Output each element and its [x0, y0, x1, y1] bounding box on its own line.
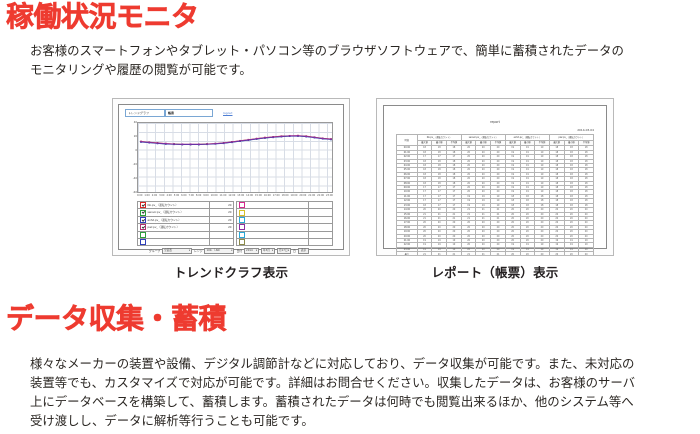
chart-data-point: [231, 141, 233, 143]
report-table-head: 時刻No.pv_（運転カウント）sensor.pv_（運転カウント）exhd.p…: [397, 135, 594, 146]
table-row: 最大212121212121202020202020: [397, 252, 594, 256]
chart-legend-column-left: No.pv_（運転カウント）20sensor.pv_（運転カウント）20exhd…: [137, 201, 234, 246]
legend-value: [309, 232, 333, 238]
chart-data-point: [206, 143, 208, 145]
legend-label: exhd.pv_（運転カウント）: [147, 217, 210, 223]
table-cell: 20: [505, 252, 520, 256]
report-title: report: [384, 120, 606, 124]
group-select-value: 全装置: [164, 248, 172, 254]
page-title-monitoring: 稼働状況モニタ: [6, 3, 199, 31]
x-tick-label: 6:00: [181, 194, 186, 199]
x-tick-label: 14:00: [246, 194, 253, 199]
table-cell: 21: [476, 252, 491, 256]
date-day-value: 月17日: [279, 248, 288, 254]
page-title-monitoring-text: 稼働状況モニタ: [6, 3, 199, 31]
table-cell-time: 最大: [397, 252, 418, 256]
chart-data-point: [322, 138, 324, 140]
chart-data-point: [256, 138, 258, 140]
date-label: 日付: [236, 249, 242, 253]
date-suffix: 日: [293, 249, 296, 253]
chevron-down-icon: ▾: [288, 248, 289, 254]
group-select[interactable]: 全装置 ▾: [162, 248, 192, 254]
x-tick-label: 21:00: [308, 194, 315, 199]
report-data-table: 時刻No.pv_（運転カウント）sensor.pv_（運転カウント）exhd.p…: [396, 134, 594, 256]
table-cell: 21: [491, 252, 506, 256]
legend-checkbox[interactable]: [239, 224, 245, 230]
legend-row[interactable]: [237, 232, 332, 239]
x-tick-label: 12:00: [228, 194, 235, 199]
legend-checkbox[interactable]: [239, 210, 245, 216]
legend-value: 20: [210, 224, 234, 230]
legend-row[interactable]: No.pv_（運転カウント）20: [138, 202, 233, 209]
legend-checkbox[interactable]: [140, 239, 146, 245]
legend-checkbox[interactable]: [140, 232, 146, 238]
range-select-value: 100-（-60）: [206, 248, 221, 254]
chevron-down-icon: ▾: [256, 248, 257, 254]
chart-data-point: [305, 135, 307, 137]
legend-value: 20: [210, 217, 234, 223]
display-button[interactable]: 表示: [298, 248, 309, 254]
chart-data-point: [140, 141, 142, 143]
table-header-time: 時刻: [397, 135, 418, 146]
x-tick-label: 10:00: [211, 194, 218, 199]
legend-value: 20: [210, 202, 234, 208]
x-tick-label: 16:00: [264, 194, 271, 199]
legend-label: sensor.pv_（運転カウント）: [147, 209, 210, 215]
legend-value: [309, 209, 333, 215]
chevron-down-icon: ▾: [189, 248, 190, 254]
legend-label: [246, 232, 309, 238]
chart-data-point: [148, 142, 150, 144]
chart-plot-area: [137, 122, 333, 193]
legend-row[interactable]: exhd.pv_（運転カウント）20: [138, 217, 233, 224]
x-tick-label: 4:00: [166, 194, 171, 199]
x-tick-label: 17:00: [273, 194, 280, 199]
x-tick-label: 2:00: [152, 194, 157, 199]
legend-value: [210, 239, 234, 245]
chevron-down-icon: ▾: [231, 248, 232, 254]
chart-data-point: [272, 136, 274, 138]
legend-row[interactable]: [138, 232, 233, 239]
chart-data-point: [165, 143, 167, 145]
legend-checkbox[interactable]: [239, 217, 245, 223]
monitoring-description: お客様のスマートフォンやタブレット・パソコン等のブラウザソフトウェアで、簡単に蓄…: [30, 41, 690, 79]
legend-row[interactable]: pwr.pv_（運転カウント）20: [138, 224, 233, 231]
trend-graph-app-window: トレンドグラフ 帳票 logout 40200-20-40-60 0:001:0…: [118, 104, 344, 250]
chart-series-svg: [138, 123, 334, 194]
chart-data-point: [190, 143, 192, 145]
legend-value: [309, 239, 333, 245]
trend-graph-controls: グループ 全装置 ▾ レンジ 100-（-60） ▾ 日付 2014 ▾ 年3月: [149, 248, 329, 254]
chart-x-axis: 0:001:002:003:004:005:006:007:008:009:00…: [137, 194, 333, 199]
legend-row[interactable]: [237, 239, 332, 246]
chart-data-point: [248, 139, 250, 141]
chart-legend-column-right: [236, 201, 333, 246]
logout-link[interactable]: logout: [223, 111, 233, 115]
x-tick-label: 19:00: [290, 194, 297, 199]
legend-label: pwr.pv_（運転カウント）: [147, 224, 210, 230]
date-month-value: 年3月: [263, 248, 270, 254]
date-year-select[interactable]: 2014 ▾: [244, 248, 259, 254]
chart-data-point: [223, 142, 225, 144]
legend-value: [309, 202, 333, 208]
figure-trend-graph: トレンドグラフ 帳票 logout 40200-20-40-60 0:001:0…: [112, 98, 350, 281]
tab-trend-graph[interactable]: トレンドグラフ: [125, 109, 165, 117]
chart-data-point: [157, 142, 159, 144]
legend-label: [246, 209, 309, 215]
group-label: グループ: [149, 249, 160, 253]
figure-report-table: report 2014-03-04 時刻No.pv_（運転カウント）sensor…: [376, 98, 614, 281]
legend-label: [147, 232, 210, 238]
page-title-data-collection: データ収集・蓄積: [6, 305, 226, 333]
x-tick-label: 18:00: [282, 194, 289, 199]
legend-row[interactable]: sensor.pv_（運転カウント）20: [138, 209, 233, 216]
legend-value: [309, 224, 333, 230]
chart-y-axis: 40200-20-40-60: [125, 121, 137, 194]
legend-label: [147, 239, 210, 245]
legend-label: [246, 224, 309, 230]
report-table-body: 00:0018181820202019191918181801:00181818…: [397, 146, 594, 256]
x-tick-label: 0:00: [137, 194, 142, 199]
chart-data-point: [281, 135, 283, 137]
legend-label: [246, 202, 309, 208]
report-app-window: report 2014-03-04 時刻No.pv_（運転カウント）sensor…: [383, 105, 607, 249]
x-tick-label: 1:00: [144, 194, 149, 199]
chart-data-point: [239, 140, 241, 142]
legend-row[interactable]: [237, 217, 332, 224]
table-cell: 21: [417, 252, 432, 256]
range-select[interactable]: 100-（-60） ▾: [204, 248, 234, 254]
x-tick-label: 9:00: [203, 194, 208, 199]
legend-checkbox[interactable]: [140, 202, 146, 208]
date-month-select[interactable]: 年3月 ▾: [261, 248, 275, 254]
chart-data-point: [264, 137, 266, 139]
table-cell: 20: [564, 252, 579, 256]
x-tick-label: 13:00: [237, 194, 244, 199]
report-date: 2014-03-04: [577, 128, 594, 132]
table-cell: 21: [461, 252, 476, 256]
figure-trend-graph-caption: トレンドクラフ表示: [112, 262, 350, 281]
page-title-data-collection-text: データ収集・蓄積: [6, 305, 226, 333]
chart-data-point: [173, 143, 175, 145]
table-cell: 20: [520, 252, 535, 256]
chart-data-point: [182, 143, 184, 145]
legend-row[interactable]: [138, 239, 233, 246]
tab-report[interactable]: 帳票: [165, 109, 213, 117]
legend-row[interactable]: [237, 224, 332, 231]
legend-value: [210, 232, 234, 238]
legend-row[interactable]: [237, 209, 332, 216]
legend-checkbox[interactable]: [239, 239, 245, 245]
x-tick-label: 20:00: [299, 194, 306, 199]
table-cell: 20: [579, 252, 594, 256]
x-tick-label: 5:00: [174, 194, 179, 199]
legend-checkbox[interactable]: [239, 202, 245, 208]
figure-trend-graph-frame: トレンドグラフ 帳票 logout 40200-20-40-60 0:001:0…: [112, 98, 350, 256]
legend-checkbox[interactable]: [140, 210, 146, 216]
legend-row[interactable]: [237, 202, 332, 209]
legend-checkbox[interactable]: [140, 224, 146, 230]
x-tick-label: 3:00: [159, 194, 164, 199]
legend-value: 20: [210, 209, 234, 215]
table-cell: 20: [535, 252, 550, 256]
x-tick-label: 15:00: [255, 194, 262, 199]
chart-data-point: [314, 136, 316, 138]
legend-checkbox[interactable]: [239, 232, 245, 238]
trend-graph-toolbar: トレンドグラフ 帳票 logout: [125, 109, 233, 117]
chart-series-line: [141, 136, 331, 145]
table-cell: 21: [432, 252, 447, 256]
range-label: レンジ: [194, 249, 202, 253]
x-tick-label: 7:00: [189, 194, 194, 199]
chart-data-point: [289, 135, 291, 137]
chart-series-line: [141, 136, 331, 145]
date-day-select[interactable]: 月17日 ▾: [277, 248, 291, 254]
table-header-group-row: 時刻No.pv_（運転カウント）sensor.pv_（運転カウント）exhd.p…: [397, 135, 594, 141]
x-tick-label: 23:00: [326, 194, 333, 199]
chart-data-point: [198, 143, 200, 145]
table-cell: 20: [549, 252, 564, 256]
chart-legend: No.pv_（運転カウント）20sensor.pv_（運転カウント）20exhd…: [137, 201, 333, 246]
legend-value: [309, 217, 333, 223]
legend-checkbox[interactable]: [140, 217, 146, 223]
date-year-value: 2014: [246, 248, 253, 254]
chart-data-point: [330, 138, 332, 140]
chart-series-line: [141, 136, 331, 145]
data-collection-description: 様々なメーカーの装置や設備、デジタル調節計などに対応しており、データ収集が可能で…: [30, 354, 692, 430]
x-tick-label: 22:00: [317, 194, 324, 199]
x-tick-label: 11:00: [219, 194, 226, 199]
legend-label: [246, 217, 309, 223]
figure-report-table-frame: report 2014-03-04 時刻No.pv_（運転カウント）sensor…: [376, 98, 614, 256]
legend-label: [246, 239, 309, 245]
figure-report-table-caption: レポート（帳票）表示: [376, 262, 614, 281]
legend-label: No.pv_（運転カウント）: [147, 202, 210, 208]
x-tick-label: 8:00: [196, 194, 201, 199]
chart-data-point: [297, 135, 299, 137]
chevron-down-icon: ▾: [272, 248, 273, 254]
chart-data-point: [215, 143, 217, 145]
table-cell: 21: [447, 252, 462, 256]
